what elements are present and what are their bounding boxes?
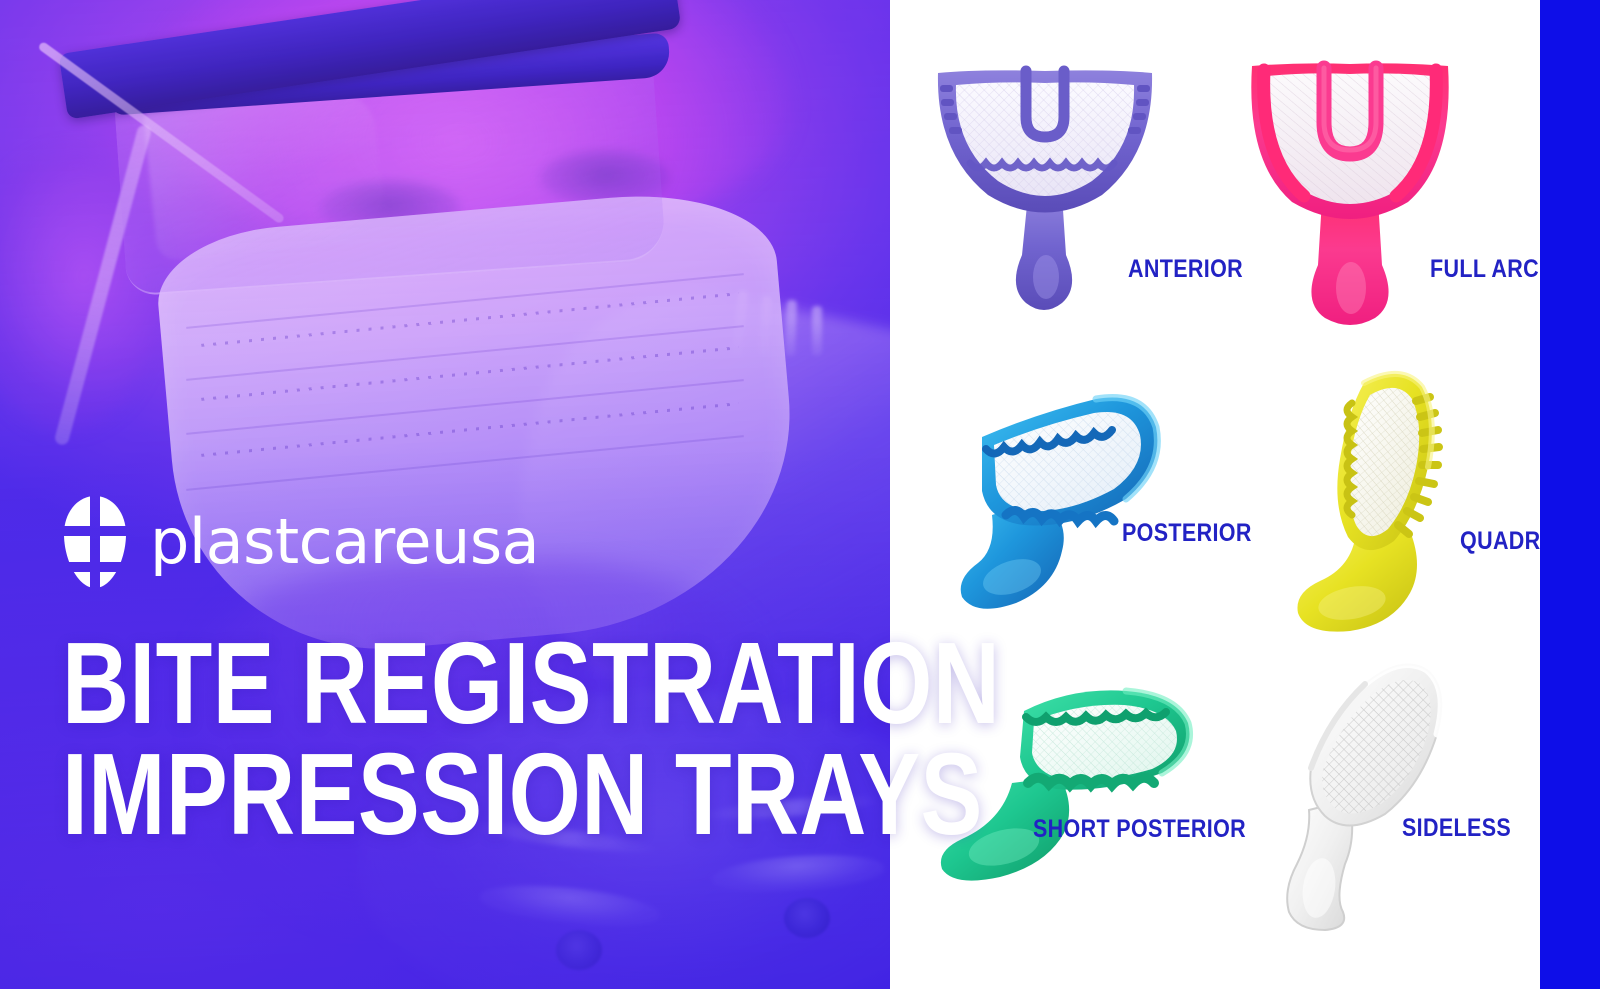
headline-line-1: BITE REGISTRATION xyxy=(62,628,1000,739)
brand-wordmark: plastcareusa xyxy=(150,511,539,573)
bite-registration-trays-banner: plastcareusa BITE REGISTRATION IMPRESSIO… xyxy=(0,0,1600,989)
product-label-sideless: SIDELESS xyxy=(1402,814,1511,843)
accent-bar-right xyxy=(1540,0,1600,989)
product-cell-anterior[interactable]: ANTERIOR xyxy=(910,55,1200,325)
product-cell-posterior[interactable]: POSTERIOR xyxy=(920,365,1220,635)
sideless-tray-icon xyxy=(1245,650,1480,935)
product-cell-sideless[interactable]: SIDELESS xyxy=(1245,650,1535,940)
product-cell-quadrant[interactable]: QUADRANT xyxy=(1260,355,1550,655)
brand-logo: plastcareusa xyxy=(64,496,539,588)
product-label-full-arch: FULL ARCH xyxy=(1430,255,1555,284)
product-cell-full-arch[interactable]: FULL ARCH xyxy=(1220,50,1520,330)
product-label-posterior: POSTERIOR xyxy=(1122,519,1252,548)
plastcare-cross-icon xyxy=(64,496,126,588)
full-arch-tray-icon xyxy=(1220,50,1480,335)
anterior-tray-icon xyxy=(910,55,1180,325)
quadrant-tray-icon xyxy=(1260,355,1510,650)
posterior-tray-icon xyxy=(920,365,1170,630)
headline-line-2: IMPRESSION TRAYS xyxy=(62,739,1000,850)
page-title: BITE REGISTRATION IMPRESSION TRAYS xyxy=(62,628,1235,851)
